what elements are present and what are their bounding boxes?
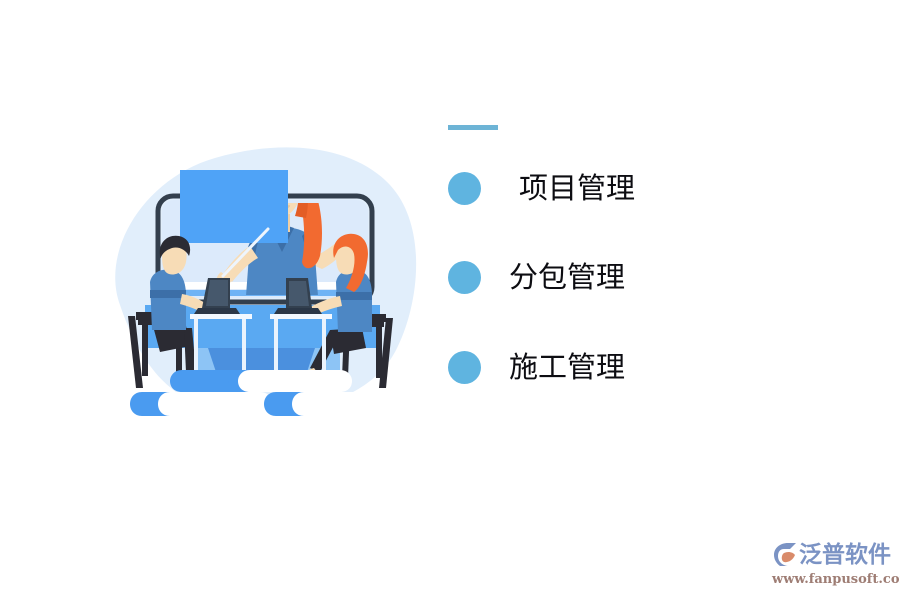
feature-label-3: 施工管理 [509,353,625,382]
bullet-dot-icon [448,172,481,205]
feature-list: 项目管理 分包管理 施工管理 [448,118,868,408]
logo-name: 泛普软件 [799,544,891,567]
feature-item-3[interactable]: 施工管理 [448,344,625,390]
watermark-logo: 泛普软件 www.fanpusoft.com [770,540,892,590]
feature-label-2: 分包管理 [509,263,625,292]
logo-url: www.fanpusoft.com [772,573,892,586]
logo-row: 泛普软件 [770,540,892,570]
feature-item-2[interactable]: 分包管理 [448,254,625,300]
fanpu-swirl-icon [770,541,798,569]
bullet-dot-icon [448,261,481,294]
online-class-illustration [90,130,430,430]
accent-dash [448,125,498,130]
feature-item-1[interactable]: 项目管理 [448,165,635,211]
feature-label-1: 项目管理 [519,174,635,203]
slide-canvas: 项目管理 分包管理 施工管理 泛普软件 www.fanpusoft.com [0,0,900,600]
bullet-dot-icon [448,351,481,384]
